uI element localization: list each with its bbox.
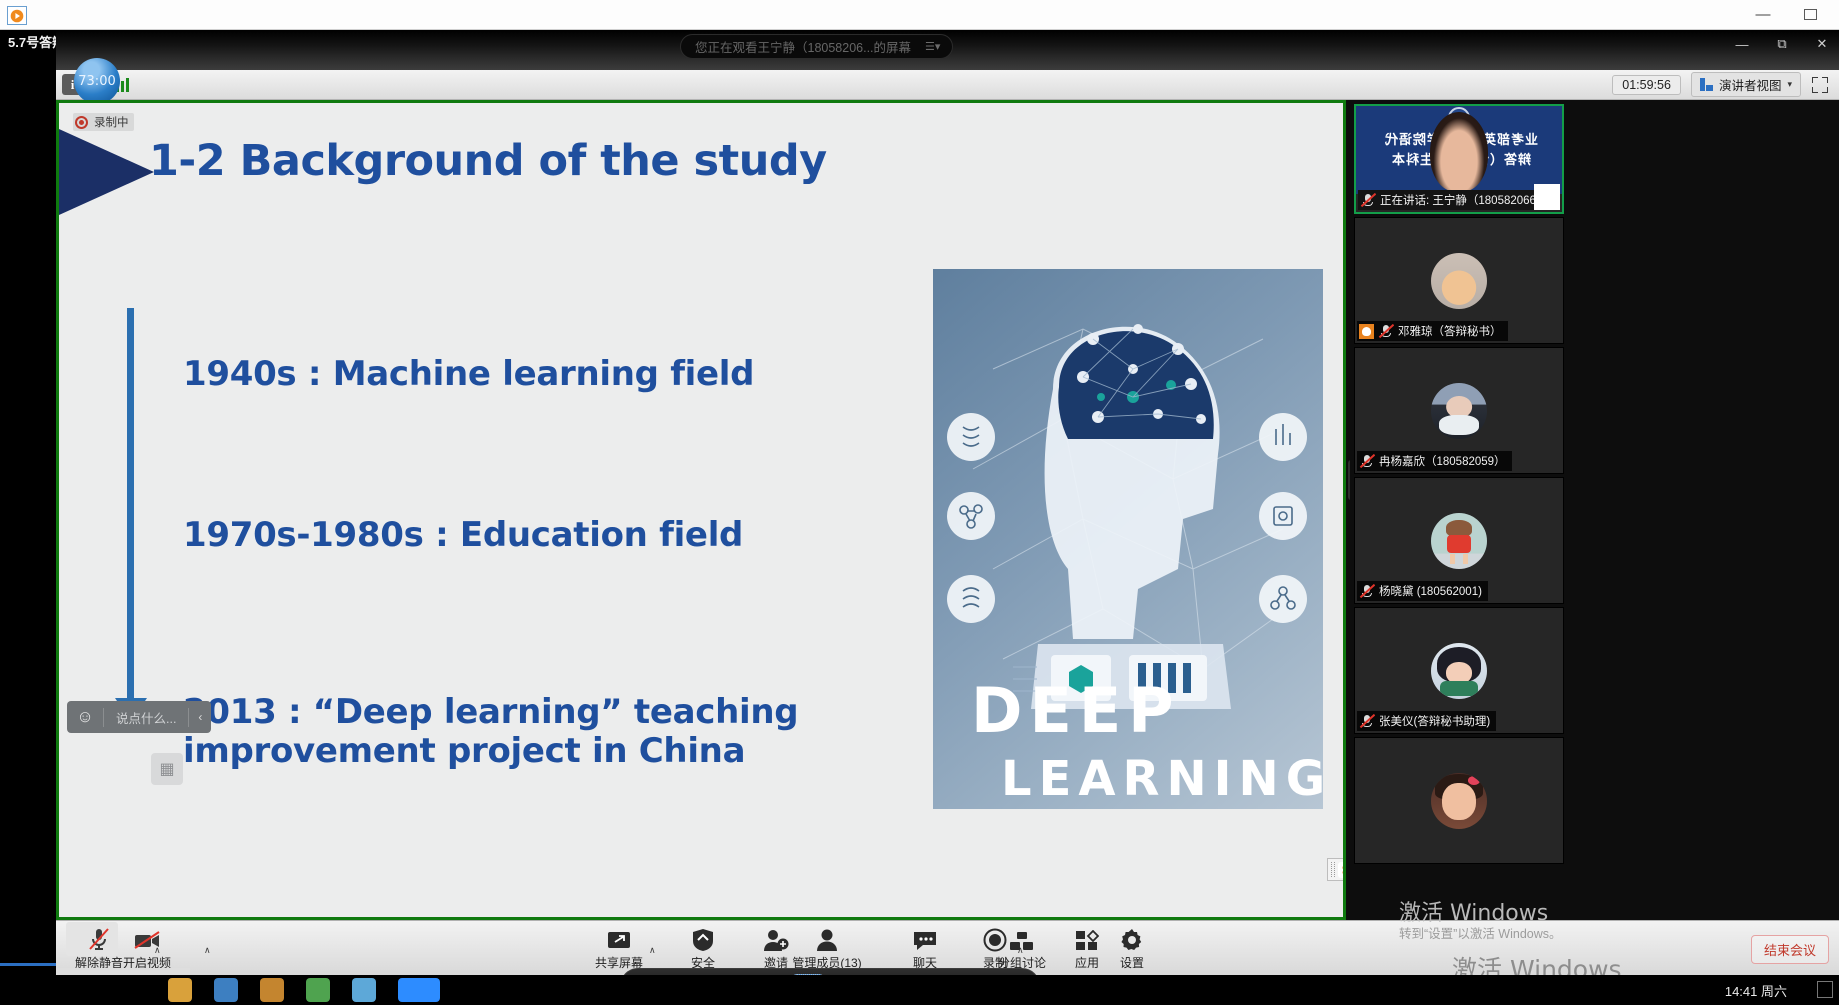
avatar — [1431, 773, 1487, 829]
outer-minimize-button[interactable]: — — [1749, 6, 1777, 24]
avatar — [1431, 513, 1487, 569]
screen: — 5.7号答辩 您正在观看王宁静（18058206...的屏幕 ☰▾ — ⧉ … — [0, 0, 1839, 1005]
participant-name: 正在讲话: 王宁静（180582066... — [1380, 192, 1546, 208]
speaking-indicator-badge — [1534, 184, 1560, 210]
chevron-down-icon[interactable]: ▾ — [1787, 79, 1792, 90]
end-meeting-button[interactable]: 结束会议 — [1751, 935, 1829, 964]
play-triangle-icon[interactable] — [7, 6, 27, 25]
settings-button[interactable]: 设置 — [1089, 925, 1175, 971]
taskbar-icon-browser[interactable] — [214, 978, 238, 1002]
participant-tile-6[interactable] — [1354, 737, 1564, 864]
zoom-window-controls: — ⧉ ✕ — [1733, 36, 1831, 52]
zoom-meeting-window: 您正在观看王宁静（18058206...的屏幕 ☰▾ — ⧉ ✕ i 01:59… — [56, 30, 1839, 975]
video-options-chevron-icon[interactable]: ∧ — [204, 945, 211, 956]
avatar — [1431, 383, 1487, 439]
slide-arrow-decoration — [59, 129, 154, 215]
outer-maximize-button[interactable] — [1797, 6, 1823, 24]
speaker-video-feed: 业考部英语与国学院语代辩答（计划业毕生科本 — [1356, 106, 1562, 194]
zoom-titlebar: 您正在观看王宁静（18058206...的屏幕 ☰▾ — ⧉ ✕ — [56, 30, 1839, 70]
zoom-status-bar: i 01:59:56 演讲者视图 ▾ — [56, 70, 1839, 100]
microphone-muted-icon — [1360, 193, 1376, 208]
camera-off-icon — [133, 925, 161, 952]
chevron-left-icon[interactable]: ‹ — [189, 710, 211, 724]
sogou-logo-icon[interactable]: S — [1338, 862, 1343, 878]
record-circle-icon — [75, 116, 88, 129]
participant-label: 张美仪(答辩秘书助理) — [1357, 711, 1496, 731]
avatar — [1431, 253, 1487, 309]
participant-tile-5[interactable]: 张美仪(答辩秘书助理) — [1354, 607, 1564, 734]
windows-activation-subtitle: 转到“设置”以激活 Windows。 — [1399, 923, 1562, 942]
breakout-rooms-icon — [1009, 925, 1035, 952]
layout-icon — [1700, 78, 1713, 91]
slide-bullet-2: 1970s-1980s : Education field — [183, 516, 743, 555]
mini-chat-bar[interactable]: ☺ 说点什么... ‹ — [67, 701, 211, 733]
zoom-restore-button[interactable]: ⧉ — [1773, 36, 1791, 52]
participant-tile-speaker[interactable]: 业考部英语与国学院语代辩答（计划业毕生科本 正在讲话: 王宁静（18058206… — [1354, 104, 1564, 214]
taskbar-icon-app1[interactable] — [260, 978, 284, 1002]
powerpoint-glyph-icon: ▦ — [151, 753, 183, 785]
gear-icon — [1120, 925, 1144, 952]
windows-taskbar: 14:41 周六 — [0, 975, 1839, 1005]
meeting-timer: 01:59:56 — [1612, 75, 1681, 95]
view-mode-selector[interactable]: 演讲者视图 ▾ — [1691, 72, 1801, 97]
illustration-word-deep: DEEP — [971, 674, 1181, 747]
shield-icon — [692, 925, 714, 952]
deep-learning-illustration: DEEP LEARNING — [933, 269, 1323, 809]
manage-participants-button[interactable]: 管理成员(13) — [784, 925, 870, 971]
participant-tile-2[interactable]: 邓雅琼（答辩秘书） — [1354, 217, 1564, 344]
shared-screen-frame: 1-2 Background of the study 1940s : Mach… — [56, 100, 1346, 920]
taskbar-icon-zoom[interactable] — [398, 978, 440, 1002]
host-icon — [1359, 324, 1374, 339]
taskbar-icon-app2[interactable] — [306, 978, 330, 1002]
recording-indicator: 录制中 — [73, 113, 134, 131]
participant-name: 冉杨嘉欣（180582059） — [1379, 453, 1506, 469]
taskbar-icons — [168, 978, 440, 1002]
fullscreen-icon[interactable] — [1811, 76, 1829, 94]
show-desktop-button[interactable] — [1817, 981, 1833, 998]
avatar — [1431, 643, 1487, 699]
chat-bubble-icon — [912, 925, 938, 952]
outer-app-titlebar: — — [0, 0, 1839, 30]
view-mode-label: 演讲者视图 — [1719, 75, 1782, 94]
screen-share-notice-text: 您正在观看王宁静（18058206...的屏幕 — [695, 37, 911, 56]
illustration-word-learning: LEARNING — [1001, 751, 1323, 807]
zoom-minimize-button[interactable]: — — [1733, 37, 1751, 52]
mini-chat-input[interactable]: 说点什么... — [103, 708, 189, 727]
menu-icon[interactable]: ☰▾ — [925, 40, 940, 53]
taskbar-icon-folder[interactable] — [168, 978, 192, 1002]
presentation-slide: 1-2 Background of the study 1940s : Mach… — [59, 103, 1343, 917]
desktop-accent-line — [0, 963, 56, 966]
settings-label: 设置 — [1120, 954, 1144, 971]
microphone-muted-icon — [1359, 714, 1375, 729]
recording-label: 录制中 — [94, 114, 129, 130]
microphone-muted-icon — [1359, 584, 1375, 599]
participant-label: 杨晓黛 (180562001) — [1357, 581, 1488, 601]
share-screen-icon — [606, 925, 632, 952]
screen-share-notice[interactable]: 您正在观看王宁静（18058206...的屏幕 ☰▾ — [680, 34, 953, 59]
share-options-chevron-icon[interactable]: ∧ — [649, 945, 656, 956]
emoji-icon[interactable]: ☺ — [67, 707, 103, 727]
speaking-timer-bubble[interactable]: 73:00 — [74, 58, 120, 104]
zoom-close-button[interactable]: ✕ — [1813, 36, 1831, 52]
taskbar-icon-app3[interactable] — [352, 978, 376, 1002]
timeline-line — [127, 308, 134, 708]
participant-name: 邓雅琼（答辩秘书） — [1398, 323, 1502, 339]
participants-icon — [814, 925, 840, 952]
taskbar-clock[interactable]: 14:41 周六 — [1725, 981, 1787, 1000]
start-video-button[interactable]: 开启视频 — [104, 925, 190, 971]
participant-name: 杨晓黛 (180562001) — [1379, 583, 1482, 599]
microphone-muted-icon — [1378, 324, 1394, 339]
participant-name: 张美仪(答辩秘书助理) — [1379, 713, 1490, 729]
slide-bullet-3: 2013 : “Deep learning” teaching improvem… — [183, 693, 803, 771]
participants-panel: 业考部英语与国学院语代辩答（计划业毕生科本 正在讲话: 王宁静（18058206… — [1350, 100, 1839, 920]
participant-label: 冉杨嘉欣（180582059） — [1357, 451, 1512, 471]
microphone-muted-icon — [1359, 454, 1375, 469]
desktop-left-gutter — [0, 30, 56, 970]
sogou-ime-floating-widget[interactable]: S ⋮ — [1327, 858, 1343, 881]
drag-handle[interactable] — [1331, 862, 1335, 877]
participant-tile-3[interactable]: 冉杨嘉欣（180582059） — [1354, 347, 1564, 474]
slide-bullet-1: 1940s : Machine learning field — [183, 355, 754, 394]
speaker-face — [1430, 112, 1488, 192]
participant-tile-4[interactable]: 杨晓黛 (180562001) — [1354, 477, 1564, 604]
participant-label: 正在讲话: 王宁静（180582066... — [1358, 190, 1552, 210]
participant-label: 邓雅琼（答辩秘书） — [1357, 321, 1508, 341]
slide-title: 1-2 Background of the study — [149, 136, 827, 186]
